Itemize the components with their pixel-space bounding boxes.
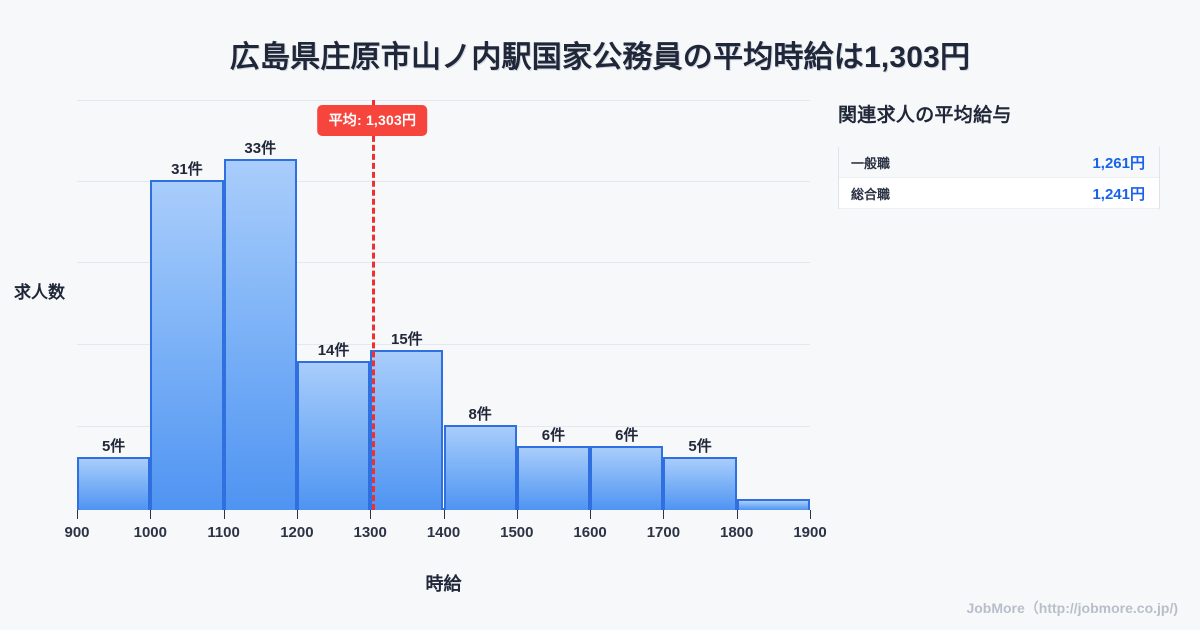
bar-value-label: 6件 (517, 424, 590, 445)
histogram-bar (224, 159, 297, 510)
histogram-bar (663, 457, 736, 510)
gridline (77, 100, 810, 101)
x-axis-tick (77, 510, 78, 519)
x-axis-tick-label: 1600 (573, 524, 606, 541)
bar-value-label: 8件 (444, 403, 517, 424)
x-axis-tick-label: 1400 (427, 524, 460, 541)
bar-value-label: 33件 (224, 137, 297, 158)
x-axis-tick (737, 510, 738, 519)
x-axis-tick (297, 510, 298, 519)
x-axis-tick (370, 510, 371, 519)
bar-value-label: 5件 (663, 435, 736, 456)
x-axis-tick-label: 900 (64, 524, 89, 541)
x-axis-tick (810, 510, 811, 519)
x-axis-tick-label: 1800 (720, 524, 753, 541)
x-axis-tick (224, 510, 225, 519)
x-axis-tick (444, 510, 445, 519)
bar-value-label: 31件 (150, 158, 223, 179)
related-salary-title: 関連求人の平均給与 (838, 100, 1168, 127)
histogram-bar (150, 180, 223, 510)
page-title: 広島県庄原市山ノ内駅国家公務員の平均時給は1,303円 (0, 32, 1200, 76)
x-axis-tick-label: 1300 (354, 524, 387, 541)
histogram-bar (590, 446, 663, 510)
x-axis-tick (517, 510, 518, 519)
x-axis-tick-label: 1900 (793, 524, 826, 541)
histogram-bar (517, 446, 590, 510)
average-line (372, 100, 375, 510)
salary-row-name: 一般職 (851, 153, 890, 172)
histogram-bar (297, 361, 370, 510)
histogram-bar (737, 499, 810, 510)
salary-row-value: 1,241円 (1092, 183, 1145, 204)
table-row[interactable]: 総合職 1,241円 (839, 178, 1159, 209)
related-salary-table: 一般職 1,261円 総合職 1,241円 (838, 147, 1160, 209)
x-axis-tick (663, 510, 664, 519)
average-badge: 平均: 1,303円 (318, 105, 428, 136)
x-axis-tick-label: 1000 (134, 524, 167, 541)
bar-value-label: 15件 (370, 328, 443, 349)
x-axis-tick (150, 510, 151, 519)
bar-value-label: 5件 (77, 435, 150, 456)
footer-credit: JobMore（http://jobmore.co.jp/) (966, 598, 1178, 618)
histogram-bar (370, 350, 443, 510)
x-axis-tick-label: 1100 (207, 524, 240, 541)
y-axis-label: 求人数 (14, 278, 65, 303)
table-row[interactable]: 一般職 1,261円 (839, 147, 1159, 178)
salary-row-name: 総合職 (851, 184, 890, 203)
related-salary-panel: 関連求人の平均給与 一般職 1,261円 総合職 1,241円 (838, 100, 1168, 209)
x-axis-tick-label: 1200 (280, 524, 313, 541)
histogram-bar (77, 457, 150, 510)
x-axis-tick-label: 1700 (647, 524, 680, 541)
x-axis-tick (590, 510, 591, 519)
salary-row-value: 1,261円 (1092, 152, 1145, 173)
x-axis-tick-label: 1500 (500, 524, 533, 541)
x-axis-label: 時給 (77, 570, 810, 596)
bar-value-label: 6件 (590, 424, 663, 445)
histogram-bar (444, 425, 517, 510)
bar-value-label: 14件 (297, 339, 370, 360)
